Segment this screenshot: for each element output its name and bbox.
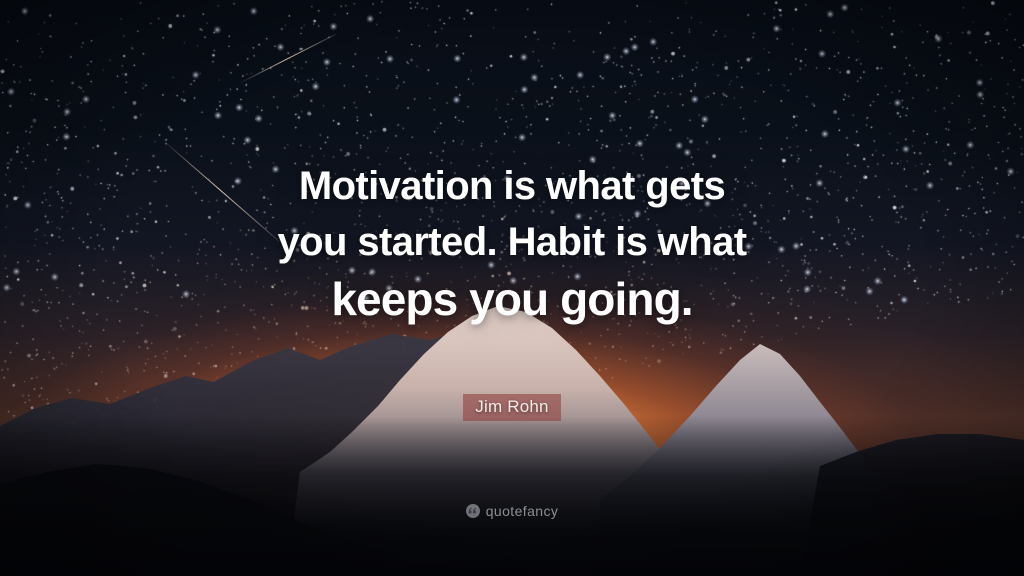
watermark: quotefancy: [0, 503, 1024, 519]
author-name: Jim Rohn: [463, 394, 560, 421]
watermark-brand: quotefancy: [486, 503, 559, 519]
author-attribution: Jim Rohn: [0, 394, 1024, 421]
quote-image-canvas: Motivation is what gets you started. Hab…: [0, 0, 1024, 576]
quote-badge-icon: [466, 504, 480, 518]
mountain-range: [0, 276, 1024, 576]
